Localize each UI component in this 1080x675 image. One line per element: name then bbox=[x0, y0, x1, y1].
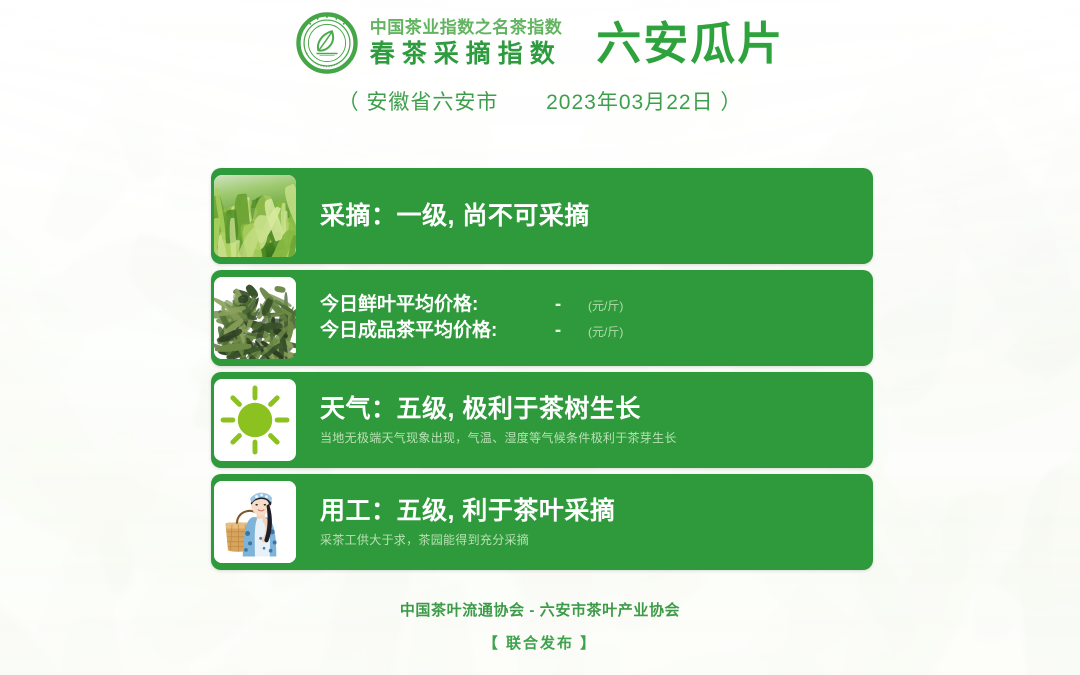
price-fresh-value: - bbox=[528, 292, 588, 318]
card-labour[interactable]: 用工：五级, 利于茶叶采摘 采茶工供大于求，茶园能得到充分采摘 bbox=[211, 474, 873, 570]
index-title-block: 中国茶业指数之名茶指数 春茶采摘指数 bbox=[370, 19, 563, 67]
price-finished-value: - bbox=[528, 318, 588, 344]
card-weather-desc: 当地无极端天气现象出现，气温、湿度等气候条件极利于茶芽生长 bbox=[320, 429, 857, 446]
card-labour-body: 用工：五级, 利于茶叶采摘 采茶工供大于求，茶园能得到充分采摘 bbox=[296, 496, 873, 548]
card-weather-body: 天气：五级, 极利于茶树生长 当地无极端天气现象出现，气温、湿度等气候条件极利于… bbox=[296, 394, 873, 446]
card-prices-body: 今日鲜叶平均价格: - (元/斤) 今日成品茶平均价格: - (元/斤) bbox=[296, 292, 873, 343]
index-family-label: 中国茶业指数之名茶指数 bbox=[370, 19, 563, 36]
tea-picker-woman-icon bbox=[214, 481, 296, 563]
index-card-list: 采摘：一级, 尚不可采摘 今日鲜叶平均价格: - (元/斤) 今日成品茶平均价格… bbox=[211, 168, 873, 576]
tea-association-seal-icon bbox=[296, 12, 358, 74]
page-title: 六安瓜片 bbox=[596, 21, 784, 66]
price-row-fresh: 今日鲜叶平均价格: - (元/斤) bbox=[320, 292, 857, 318]
poster-footer: 中国茶叶流通协会 - 六安市茶叶产业协会 【 联合发布 】 bbox=[0, 599, 1080, 653]
location-date-line: （ 安徽省六安市 2023年03月22日 ） bbox=[0, 86, 1080, 116]
card-picking-body: 采摘：一级, 尚不可采摘 bbox=[296, 201, 873, 231]
index-name-label: 春茶采摘指数 bbox=[370, 42, 562, 67]
card-labour-desc: 采茶工供大于求，茶园能得到充分采摘 bbox=[320, 531, 857, 548]
location-label: （ 安徽省六安市 bbox=[338, 91, 499, 114]
header-row: 中国茶业指数之名茶指数 春茶采摘指数 六安瓜片 bbox=[0, 12, 1080, 74]
poster-header: 中国茶业指数之名茶指数 春茶采摘指数 六安瓜片 （ 安徽省六安市 2023年03… bbox=[0, 12, 1080, 116]
fresh-tea-leaves-photo-icon bbox=[214, 175, 296, 257]
footer-publishers: 中国茶叶流通协会 - 六安市茶叶产业协会 bbox=[0, 599, 1080, 620]
card-prices[interactable]: 今日鲜叶平均价格: - (元/斤) 今日成品茶平均价格: - (元/斤) bbox=[211, 270, 873, 366]
card-picking-title: 采摘：一级, 尚不可采摘 bbox=[320, 201, 857, 231]
price-fresh-label: 今日鲜叶平均价格: bbox=[320, 292, 528, 318]
poster-canvas: 中国茶业指数之名茶指数 春茶采摘指数 六安瓜片 （ 安徽省六安市 2023年03… bbox=[0, 0, 1080, 675]
footer-note: 【 联合发布 】 bbox=[0, 632, 1080, 653]
price-row-finished: 今日成品茶平均价格: - (元/斤) bbox=[320, 318, 857, 344]
price-finished-label: 今日成品茶平均价格: bbox=[320, 318, 528, 344]
sun-icon bbox=[214, 379, 296, 461]
card-labour-title: 用工：五级, 利于茶叶采摘 bbox=[320, 496, 857, 526]
price-fresh-unit: (元/斤) bbox=[588, 298, 623, 314]
card-weather-title: 天气：五级, 极利于茶树生长 bbox=[320, 394, 857, 424]
price-finished-unit: (元/斤) bbox=[588, 324, 623, 340]
card-picking[interactable]: 采摘：一级, 尚不可采摘 bbox=[211, 168, 873, 264]
dried-tea-leaves-photo-icon bbox=[214, 277, 296, 359]
date-label: 2023年03月22日 ） bbox=[546, 91, 742, 114]
card-weather[interactable]: 天气：五级, 极利于茶树生长 当地无极端天气现象出现，气温、湿度等气候条件极利于… bbox=[211, 372, 873, 468]
